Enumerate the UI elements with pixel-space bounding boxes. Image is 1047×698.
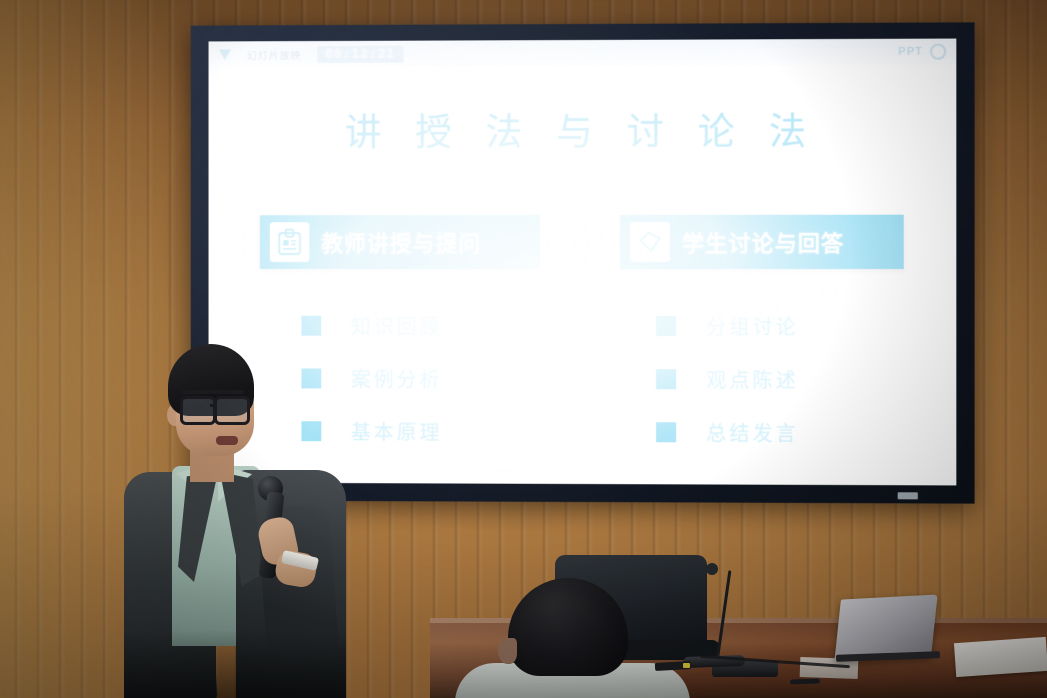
photo-vignette xyxy=(0,0,1047,698)
photo-scene: 幻灯片放映 00:12:21 PPT 讲 授 法 与 讨 论 法 xyxy=(0,0,1047,698)
